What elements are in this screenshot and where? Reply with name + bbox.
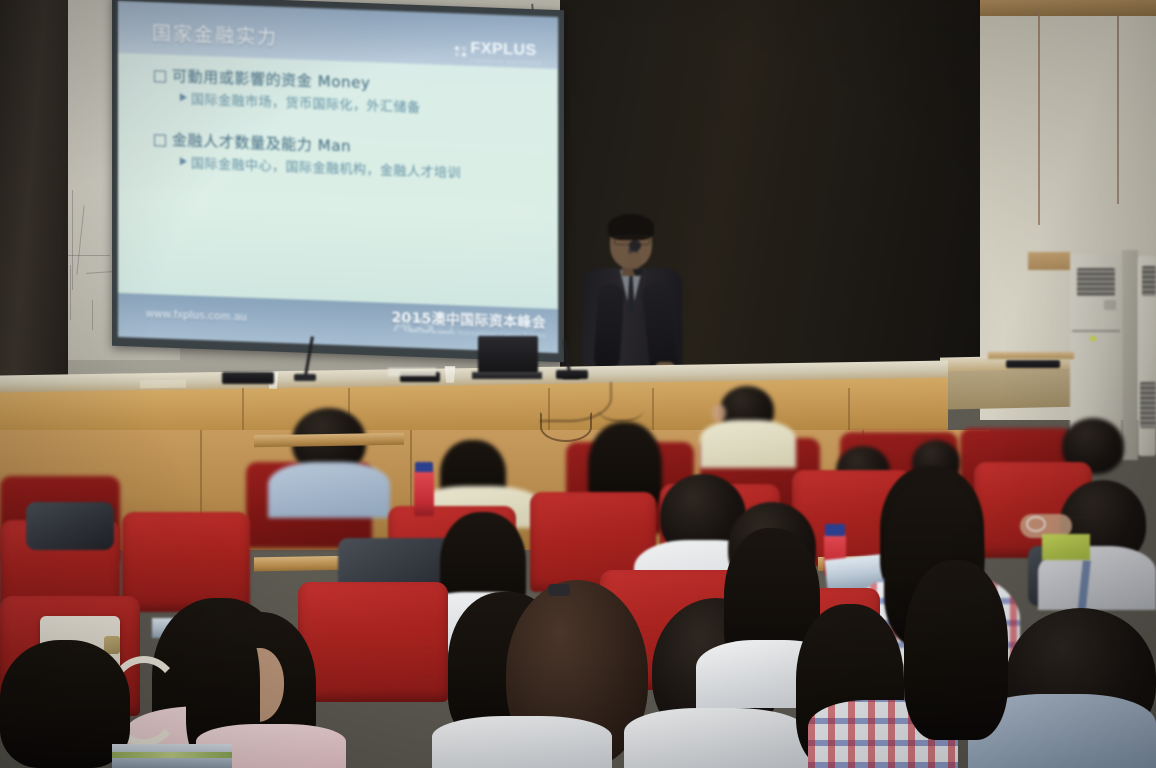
air-conditioner-vent	[1142, 266, 1156, 296]
wall-panel	[1028, 252, 1070, 270]
audience-torso	[700, 420, 796, 468]
photo-scene: 国家金融实力 FXPLUS FINANCIAL EXCHANGE 可動用或影響的…	[0, 0, 1156, 768]
auditorium-seat	[298, 582, 448, 702]
stage-curtain-left	[0, 0, 68, 386]
whiteboard-marking	[92, 300, 93, 330]
fxplus-logo-text-wrap: FXPLUS FINANCIAL EXCHANGE	[471, 40, 542, 66]
equipment-on-side-counter	[1006, 360, 1060, 368]
projection-screen: 国家金融实力 FXPLUS FINANCIAL EXCHANGE 可動用或影響的…	[118, 1, 558, 353]
side-counter-front	[940, 364, 1090, 409]
audience-head	[0, 640, 130, 768]
air-conditioner-vent	[1077, 268, 1115, 296]
wrist-bracelet	[1026, 516, 1046, 532]
laptop-screen	[478, 336, 538, 374]
square-bullet-icon	[154, 134, 166, 146]
arrow-bullet-icon	[180, 93, 187, 101]
red-water-bottle	[414, 470, 434, 516]
arrow-bullet-icon	[180, 157, 187, 165]
air-conditioner-seam	[1072, 330, 1120, 332]
slide-bullet-list: 可動用或影響的资金 Money 国际金融市场，货币国际化，外汇储备 金融人才数量…	[154, 64, 544, 184]
fxplus-logo: FXPLUS FINANCIAL EXCHANGE	[455, 39, 542, 65]
wall-shelf	[988, 352, 1074, 359]
podium-name-plate	[140, 380, 186, 389]
square-bullet-icon	[154, 70, 166, 82]
bottle-cap	[825, 524, 845, 536]
air-conditioner-panel	[1104, 300, 1116, 310]
projector-control-unit	[556, 370, 588, 379]
paper-sheet	[388, 368, 436, 376]
ceiling-beam	[960, 0, 1156, 16]
audience-head	[904, 560, 1008, 740]
slide-footer-event: 2015澳中国际资本峰会 Australia China Internation…	[391, 307, 546, 340]
audience-face	[712, 404, 726, 422]
power-cable	[598, 398, 644, 422]
auditorium-seat	[122, 512, 250, 612]
book-stack-spine	[112, 752, 232, 758]
wall-wire-loop	[540, 412, 592, 442]
bottle-cap	[415, 462, 433, 472]
audience-torso	[268, 462, 390, 518]
fxplus-logo-word: FXPLUS	[471, 40, 537, 59]
fxplus-logo-dots-icon	[455, 46, 467, 56]
air-conditioner-vent	[1140, 382, 1156, 428]
audience-torso	[624, 708, 808, 768]
hanging-cord	[1038, 10, 1040, 225]
slide-title: 国家金融实力	[152, 18, 278, 50]
air-conditioner-column	[1122, 250, 1138, 460]
dark-jacket-on-seat	[26, 502, 114, 550]
hair-tie	[548, 584, 570, 596]
green-notebook	[1042, 534, 1090, 560]
whiteboard-marking	[72, 190, 73, 290]
hanging-cord	[1117, 14, 1119, 204]
laptop-base	[472, 372, 542, 379]
whiteboard-marking	[70, 265, 71, 320]
air-conditioner-indicator	[1090, 336, 1096, 341]
av-equipment-box	[222, 372, 274, 384]
whiteboard-marking	[68, 255, 110, 256]
audience-torso	[432, 716, 612, 768]
microphone-head	[629, 240, 641, 251]
slide-content: 国家金融实力 FXPLUS FINANCIAL EXCHANGE 可動用或影響的…	[118, 1, 558, 353]
